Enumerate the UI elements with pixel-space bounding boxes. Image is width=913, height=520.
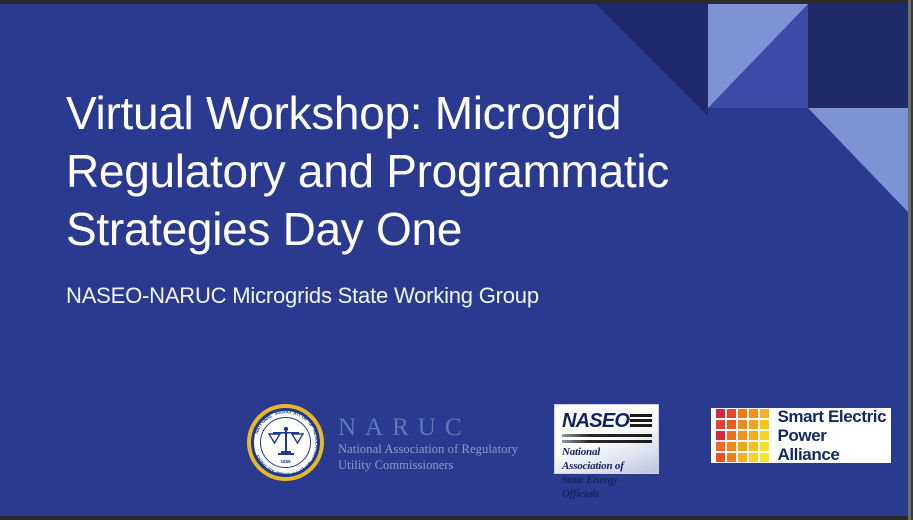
decor-lower-light-triangle: [808, 108, 908, 212]
naruc-logo: NATIONAL ASSOCIATION OF REGULATORY UTILI…: [247, 404, 518, 481]
viewer-top-border: [0, 0, 913, 4]
sepa-grid-cell-4-1: [727, 453, 736, 462]
sepa-grid-cell-0-4: [760, 409, 769, 418]
page-subtitle: NASEO-NARUC Microgrids State Working Gro…: [66, 283, 539, 309]
sepa-logo: Smart Electric Power Alliance: [711, 408, 891, 463]
sepa-grid-cell-0-0: [716, 409, 725, 418]
naseo-rule-1: [562, 434, 652, 437]
decor-dark-square: [808, 4, 908, 108]
page-title: Virtual Workshop: Microgrid Regulatory a…: [66, 84, 726, 258]
sepa-grid-icon: [716, 409, 769, 462]
title-line-2: Regulatory and Programmatic: [66, 142, 726, 200]
slide-viewer: Virtual Workshop: Microgrid Regulatory a…: [0, 0, 913, 520]
naruc-acronym: NARUC: [338, 414, 518, 441]
sepa-grid-cell-3-4: [760, 442, 769, 451]
sepa-grid-cell-2-3: [749, 431, 758, 440]
sepa-wordmark: Smart Electric Power Alliance: [777, 407, 891, 464]
sepa-grid-cell-4-2: [738, 453, 747, 462]
sepa-grid-cell-0-2: [738, 409, 747, 418]
naruc-seal-year: 1889: [247, 459, 324, 464]
sepa-grid-cell-1-0: [716, 420, 725, 429]
sepa-grid-cell-1-1: [727, 420, 736, 429]
title-line-3: Strategies Day One: [66, 200, 726, 258]
sepa-grid-cell-3-1: [727, 442, 736, 451]
naseo-acronym: NASEO: [562, 411, 629, 431]
sepa-grid-cell-2-2: [738, 431, 747, 440]
sepa-grid-cell-2-1: [727, 431, 736, 440]
naseo-bars-icon: [630, 414, 652, 429]
logo-strip: NATIONAL ASSOCIATION OF REGULATORY UTILI…: [0, 400, 908, 486]
title-line-1: Virtual Workshop: Microgrid: [66, 84, 726, 142]
sepa-grid-cell-3-0: [716, 442, 725, 451]
sepa-grid-cell-0-1: [727, 409, 736, 418]
sepa-line-2: Power Alliance: [777, 426, 891, 464]
sepa-grid-cell-4-4: [760, 453, 769, 462]
naseo-logo: NASEO National Association of State Ener…: [554, 404, 659, 474]
presentation-slide: Virtual Workshop: Microgrid Regulatory a…: [0, 4, 908, 516]
naruc-subtitle-line-1: National Association of Regulatory: [338, 441, 518, 457]
sepa-grid-cell-3-2: [738, 442, 747, 451]
naseo-subtitle-line-1: National Association of: [562, 445, 652, 473]
naseo-subtitle-line-2: State Energy Officials: [562, 473, 652, 501]
naseo-wordmark-row: NASEO: [562, 410, 652, 431]
naruc-wordmark: NARUC National Association of Regulatory…: [338, 412, 518, 473]
sepa-grid-cell-3-3: [749, 442, 758, 451]
sepa-grid-cell-1-3: [749, 420, 758, 429]
sepa-grid-cell-2-0: [716, 431, 725, 440]
naruc-seal-icon: NATIONAL ASSOCIATION OF REGULATORY UTILI…: [247, 404, 324, 481]
scales-of-justice-icon: [267, 425, 305, 461]
sepa-grid-cell-0-3: [749, 409, 758, 418]
sepa-line-1: Smart Electric: [777, 407, 891, 426]
sepa-grid-cell-4-3: [749, 453, 758, 462]
sepa-grid-cell-1-4: [760, 420, 769, 429]
sepa-grid-cell-1-2: [738, 420, 747, 429]
sepa-grid-cell-4-0: [716, 453, 725, 462]
naseo-rule-2: [562, 440, 652, 443]
sepa-grid-cell-2-4: [760, 431, 769, 440]
naruc-subtitle-line-2: Utility Commissioners: [338, 457, 518, 473]
